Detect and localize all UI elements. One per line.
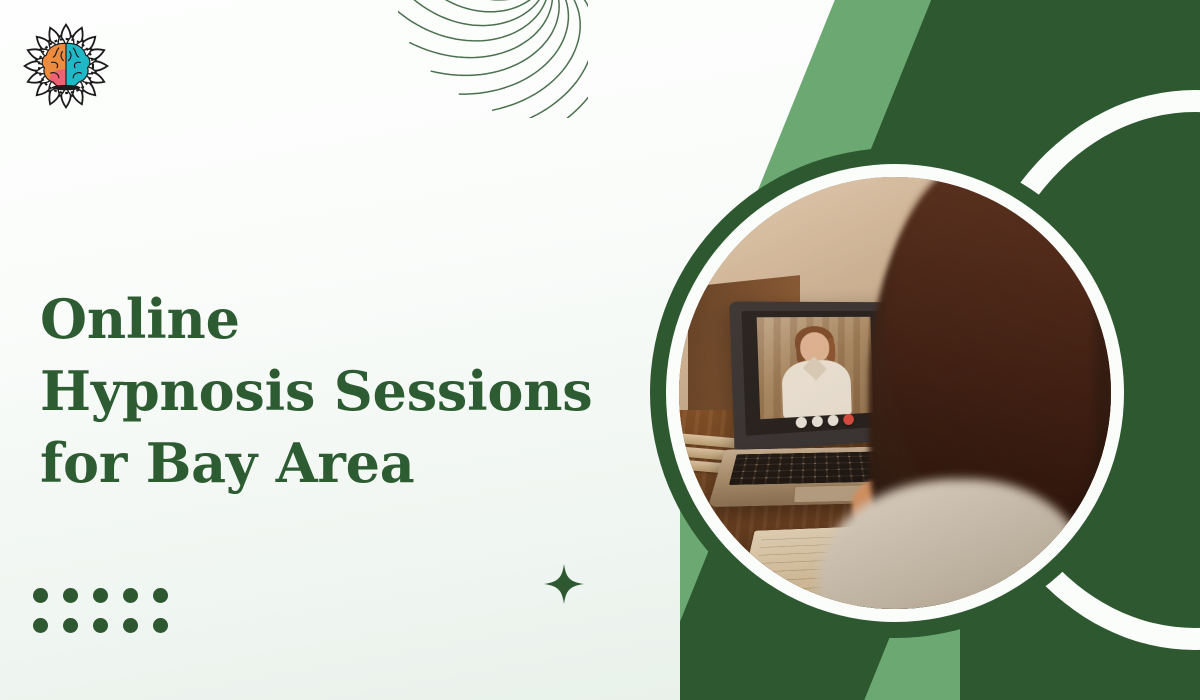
hero-banner: Online Hypnosis Sessions for Bay Area [0, 0, 1200, 700]
dot [153, 588, 168, 603]
dot [123, 618, 138, 633]
desk-scene [679, 177, 1111, 609]
page-title: Online Hypnosis Sessions for Bay Area [40, 284, 640, 499]
headline-line-3: for Bay Area [40, 428, 640, 500]
brain-shadow [52, 85, 81, 90]
photo-warm-overlay [679, 177, 1111, 609]
mandala-brain-logo [12, 12, 120, 120]
headline-line-1: Online [40, 284, 640, 356]
spiral-arm [398, 0, 546, 12]
spiral-arm [398, 0, 549, 41]
dot [63, 588, 78, 603]
circular-hero-photo [650, 148, 1140, 638]
dot [123, 588, 138, 603]
spiral-arm [550, 0, 588, 10]
dot [93, 588, 108, 603]
dot [153, 618, 168, 633]
spiral-swirl-decoration [398, 0, 588, 118]
dot-grid-decoration [33, 588, 183, 648]
dot [93, 618, 108, 633]
spiral-arm [398, 0, 547, 26]
photo-image [679, 177, 1111, 609]
dot [63, 618, 78, 633]
four-point-sparkle [540, 560, 588, 608]
spiral-arm [459, 0, 568, 94]
dot [33, 618, 48, 633]
spiral-arm [554, 0, 588, 110]
dot [33, 588, 48, 603]
headline-line-2: Hypnosis Sessions [40, 356, 640, 428]
photo-white-border [666, 164, 1124, 622]
sparkle-shape [544, 564, 584, 604]
